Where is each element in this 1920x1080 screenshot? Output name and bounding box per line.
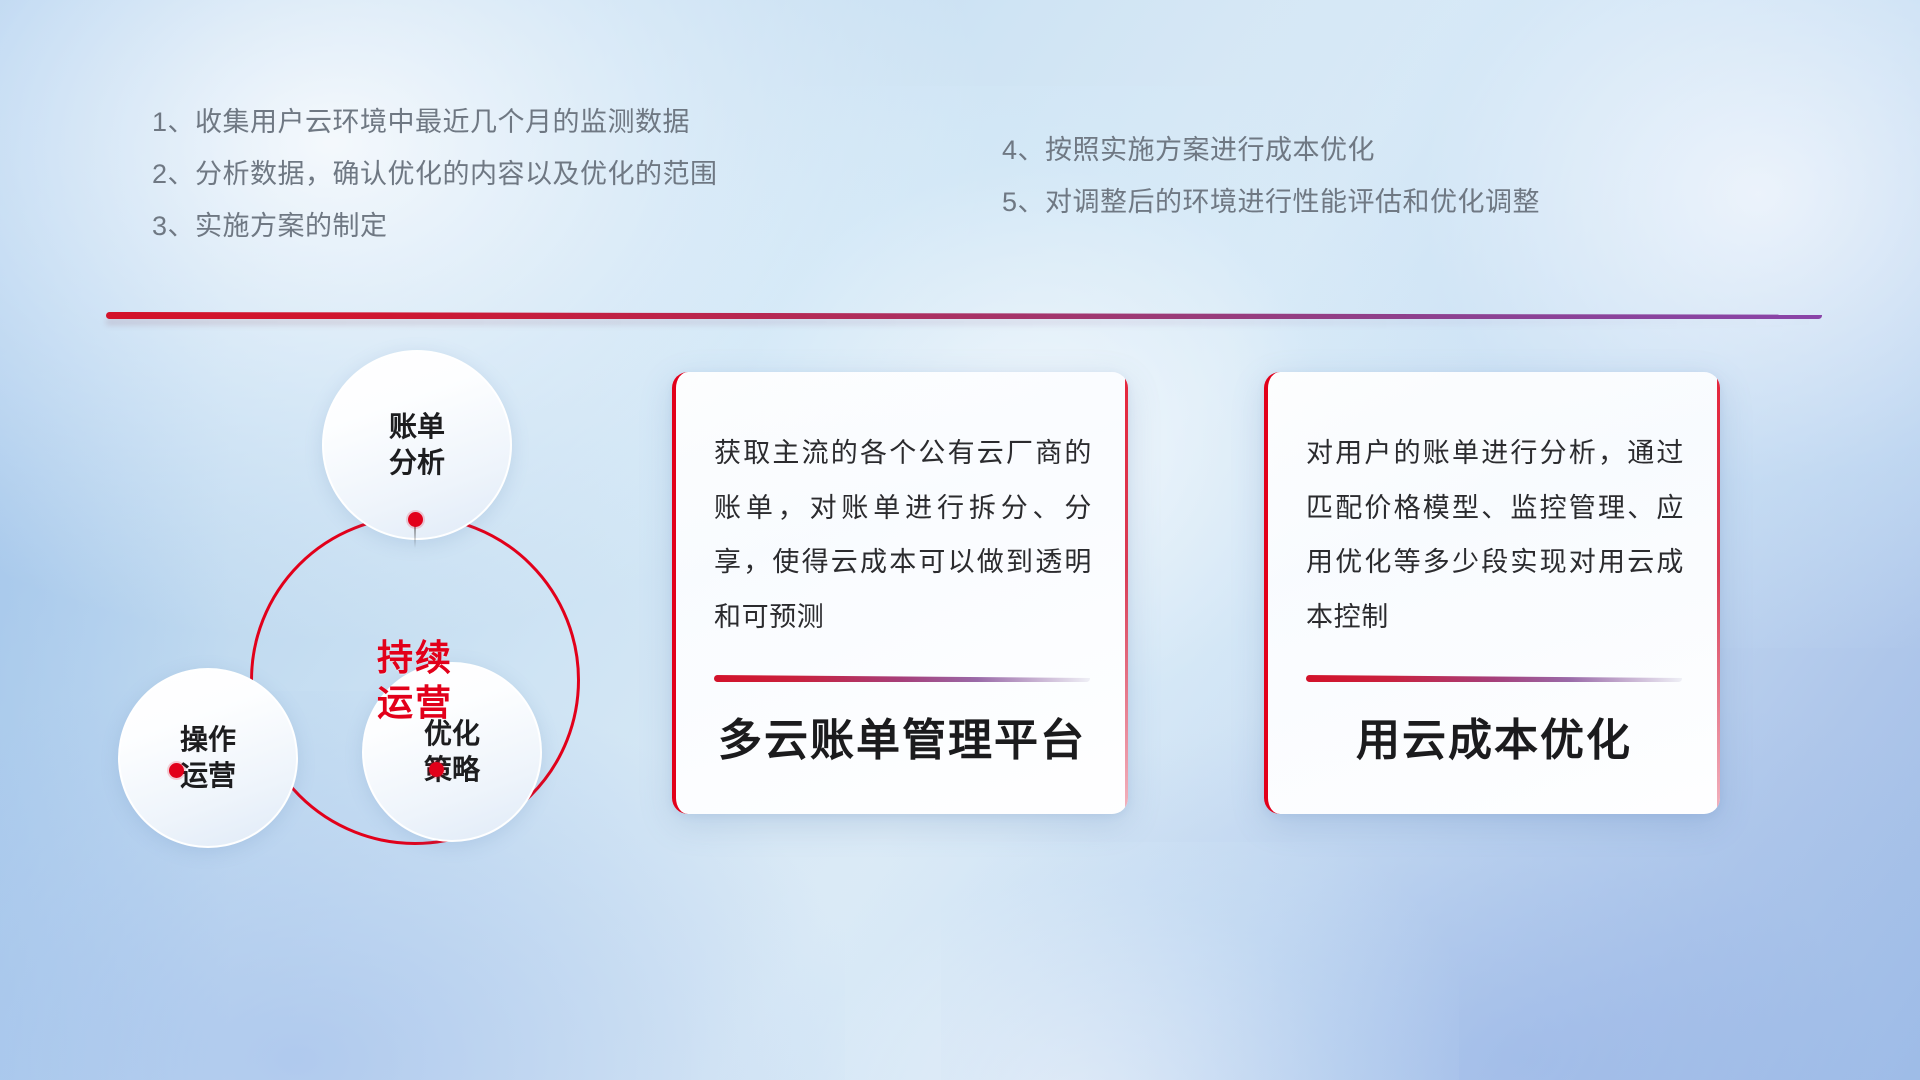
step-item-5: 5、对调整后的环境进行性能评估和优化调整 — [1002, 180, 1540, 219]
step-item-3: 3、实施方案的制定 — [152, 204, 388, 243]
diagram-dot-top — [408, 512, 423, 527]
background-glow-bottom-center — [691, 842, 1459, 1080]
diagram-node-operation-line1: 操作 — [180, 724, 236, 755]
card-2-body: 对用户的账单进行分析，通过匹配价格模型、监控管理、应用优化等多少段实现对用云成本… — [1268, 372, 1720, 644]
diagram-node-operation[interactable]: 操作 运营 — [118, 668, 298, 848]
card-cloud-cost-optimization[interactable]: 对用户的账单进行分析，通过匹配价格模型、监控管理、应用优化等多少段实现对用云成本… — [1264, 372, 1720, 814]
diagram-dot-bottom-right — [429, 762, 444, 777]
diagram-node-optimization-strategy-line1: 优化 — [424, 718, 480, 749]
step-item-4: 4、按照实施方案进行成本优化 — [1002, 128, 1375, 167]
diagram-node-optimization-strategy[interactable]: 优化 策略 — [362, 662, 542, 842]
step-item-1: 1、收集用户云环境中最近几个月的监测数据 — [152, 100, 690, 139]
diagram-node-bill-analysis-line1: 账单 — [389, 411, 445, 442]
card-2-title: 用云成本优化 — [1268, 704, 1720, 768]
diagram-connector-top — [414, 526, 416, 548]
steps-section: 1、收集用户云环境中最近几个月的监测数据 2、分析数据，确认优化的内容以及优化的… — [0, 0, 1920, 260]
step-item-2: 2、分析数据，确认优化的内容以及优化的范围 — [152, 152, 718, 191]
card-1-rule — [714, 675, 1090, 682]
diagram-node-operation-line2: 运营 — [180, 760, 236, 791]
card-2-rule — [1306, 675, 1682, 682]
diagram-node-bill-analysis-line2: 分析 — [389, 447, 445, 478]
diagram-dot-bottom-left — [169, 763, 184, 778]
card-1-body: 获取主流的各个公有云厂商的账单，对账单进行拆分、分享，使得云成本可以做到透明和可… — [676, 372, 1128, 644]
card-1-title: 多云账单管理平台 — [676, 704, 1128, 768]
divider-shadow — [106, 319, 1822, 325]
continuous-operation-diagram: 账单 分析 操作 运营 优化 策略 持续 运营 — [90, 350, 610, 950]
card-multicloud-billing-platform[interactable]: 获取主流的各个公有云厂商的账单，对账单进行拆分、分享，使得云成本可以做到透明和可… — [672, 372, 1128, 814]
